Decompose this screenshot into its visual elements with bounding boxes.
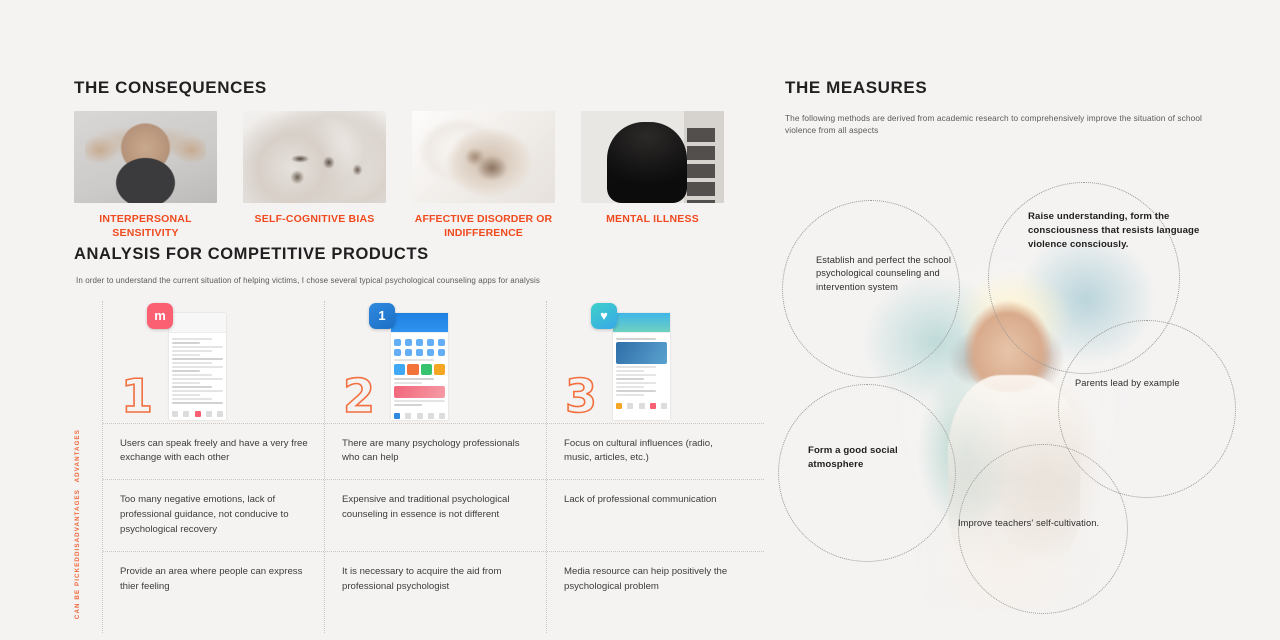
- consequence-item: INTERPERSONAL SENSITIVITY: [74, 111, 217, 240]
- measures-title: THE MEASURES: [785, 78, 1255, 98]
- screaming-faces-sculpture-photo: [243, 111, 386, 203]
- product-number: 3: [565, 373, 597, 419]
- table-row-products: 1: [103, 301, 764, 423]
- dissolving-head-photo: [412, 111, 555, 203]
- app-screenshot-2: [391, 313, 448, 420]
- product-cell: 2: [325, 301, 547, 423]
- table-cell: Users can speak freely and have a very f…: [103, 424, 325, 480]
- app-icon-community: m: [147, 303, 173, 329]
- consequence-caption: INTERPERSONAL SENSITIVITY: [74, 212, 217, 240]
- consequence-item: AFFECTIVE DISORDER OR INDIFFERENCE: [412, 111, 555, 240]
- table-grid: 1: [102, 301, 764, 633]
- consequence-caption: SELF-COGNITIVE BIAS: [243, 212, 386, 226]
- app-icon-consulting: 1: [369, 303, 395, 329]
- consequence-item: SELF-COGNITIVE BIAS: [243, 111, 386, 240]
- row-label-can-be-picked: CAN BE PICKED: [74, 556, 81, 619]
- measures-diagram: Establish and perfect the school psychol…: [770, 172, 1240, 627]
- row-label-disadvantages: DISADVANTAGES: [74, 489, 81, 556]
- analysis-subtitle: In order to understand the current situa…: [76, 275, 764, 287]
- bubble-circle-5: [778, 384, 956, 562]
- person-curled-on-chair-photo: [581, 111, 724, 203]
- measure-label-teacher-cultivation: Improve teachers' self-cultivation.: [958, 517, 1118, 530]
- app-tabbar: [613, 401, 670, 411]
- table-cell: Provide an area where people can express…: [103, 552, 325, 633]
- table-cell: Media resource can heip positively the p…: [547, 552, 757, 633]
- comparison-table: ADVANTAGES DISADVANTAGES CAN BE PICKED 1: [74, 301, 764, 633]
- app-screenshot-header: [391, 313, 448, 333]
- measures-section: THE MEASURES The following methods are d…: [785, 78, 1255, 136]
- app-screenshot-body: [391, 333, 448, 411]
- table-row: Too many negative emotions, lack of prof…: [103, 479, 764, 551]
- table-cell: Focus on cultural influences (radio, mus…: [547, 424, 757, 480]
- product-cell: 3: [547, 301, 757, 423]
- product-number: 1: [121, 373, 153, 419]
- app-banner: [616, 342, 667, 364]
- measure-label-raise-understanding: Raise understanding, form the consciousn…: [1028, 210, 1208, 252]
- row-label-advantages: ADVANTAGES: [74, 429, 81, 482]
- analysis-title: ANALYSIS FOR COMPETITIVE PRODUCTS: [74, 245, 764, 264]
- poster-page: THE CONSEQUENCES INTERPERSONAL SENSITIVI…: [0, 0, 1280, 640]
- man-holding-head-photo: [74, 111, 217, 203]
- app-tabbar: [391, 411, 448, 420]
- table-row: Provide an area where people can express…: [103, 551, 764, 633]
- app-screenshot-header: [169, 313, 226, 333]
- consequence-caption: MENTAL ILLNESS: [581, 212, 724, 226]
- table-cell: There are many psychology professionals …: [325, 424, 547, 480]
- consequence-item: MENTAL ILLNESS: [581, 111, 724, 240]
- table-cell: Expensive and traditional psychological …: [325, 480, 547, 551]
- product-number: 2: [343, 373, 375, 419]
- row-label-column: ADVANTAGES DISADVANTAGES CAN BE PICKED: [74, 301, 96, 633]
- app-screenshot-header: [613, 313, 670, 333]
- product-cell: 1: [103, 301, 325, 423]
- app-screenshot-1: [169, 313, 226, 420]
- measures-subtitle: The following methods are derived from a…: [785, 112, 1203, 136]
- table-cell: It is necessary to acquire the aid from …: [325, 552, 547, 633]
- measure-label-parents-example: Parents lead by example: [1075, 377, 1235, 390]
- consequence-caption: AFFECTIVE DISORDER OR INDIFFERENCE: [412, 212, 555, 240]
- app-screenshot-body: [613, 333, 670, 401]
- consequences-section: THE CONSEQUENCES INTERPERSONAL SENSITIVI…: [74, 78, 754, 240]
- app-tabbar: [169, 409, 226, 419]
- app-icon-health: ♥: [591, 303, 617, 329]
- measure-label-social-atmosphere: Form a good social atmosphere: [808, 444, 948, 472]
- analysis-section: ANALYSIS FOR COMPETITIVE PRODUCTS In ord…: [74, 245, 764, 633]
- app-screenshot-3: [613, 313, 670, 420]
- consequences-list: INTERPERSONAL SENSITIVITY SELF-COGNITIVE…: [74, 111, 754, 240]
- app-screenshot-body: [169, 333, 226, 409]
- table-cell: Lack of professional communication: [547, 480, 757, 551]
- table-cell: Too many negative emotions, lack of prof…: [103, 480, 325, 551]
- consequences-title: THE CONSEQUENCES: [74, 78, 754, 98]
- measure-label-counseling-system: Establish and perfect the school psychol…: [816, 254, 984, 294]
- table-row: Users can speak freely and have a very f…: [103, 423, 764, 480]
